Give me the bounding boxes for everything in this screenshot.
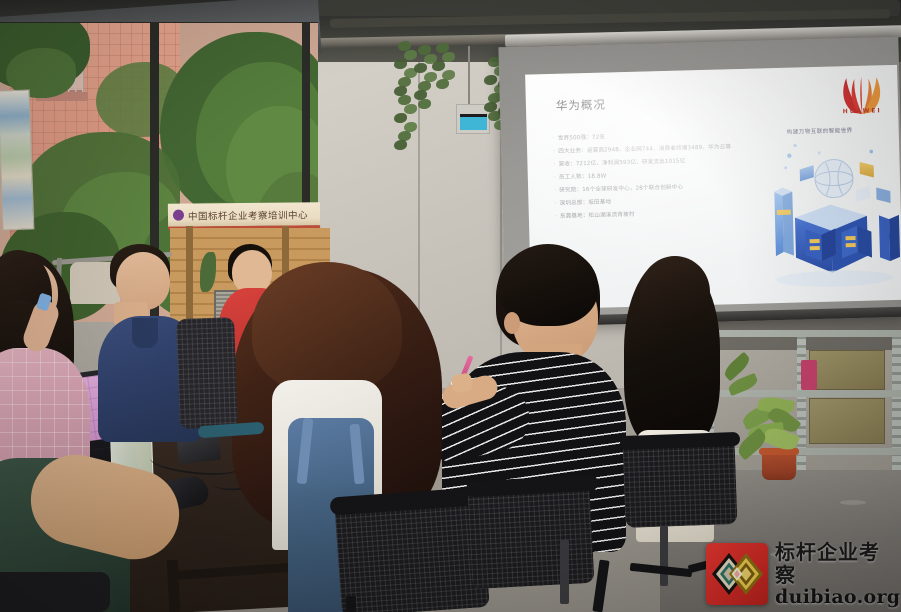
hair-crown xyxy=(252,262,402,392)
duibiao-diamond-logo xyxy=(706,543,768,605)
wall-fixture-blue-sign xyxy=(460,114,487,130)
bullet-text: 营收：7212亿、净利润593亿、研发支出1015亿 xyxy=(558,158,685,168)
pink-item-on-shelf xyxy=(801,360,817,390)
chair-post xyxy=(660,526,668,586)
bullet-marker: · xyxy=(553,149,555,155)
list-item: · 营收：7212亿、净利润593亿、研发支出1015亿 xyxy=(553,156,768,168)
polo-collar xyxy=(132,318,158,348)
chair-post xyxy=(560,540,569,604)
window-mullion xyxy=(0,22,318,23)
shelf-beam xyxy=(705,330,901,337)
list-item: · 东莞基地：松山湖溪流背坡村 xyxy=(555,208,770,220)
watermark: 标杆企业考察 duibiao.org xyxy=(706,541,896,607)
storage-box xyxy=(809,398,885,444)
bullet-marker: · xyxy=(554,201,556,207)
bullet-marker: · xyxy=(555,214,557,220)
watermark-url: duibiao.org xyxy=(775,587,900,608)
hair-crown xyxy=(640,256,710,328)
hanging-wire xyxy=(468,46,470,104)
list-item: · 员工人数：18.8W xyxy=(554,169,769,181)
watermark-text-block: 标杆企业考察 duibiao.org xyxy=(775,541,900,608)
bullet-text: 东莞基地：松山湖溪流背坡村 xyxy=(560,212,635,220)
slide-title: 华为概况 xyxy=(556,96,606,113)
huawei-wordmark: HUAWEI xyxy=(838,107,886,115)
bullet-text: 深圳总部：坂田基地 xyxy=(560,199,612,207)
smart-city-isometric-graphic xyxy=(759,131,901,300)
list-item: · 研究院：16个全球研发中心，28个联合创新中心 xyxy=(554,182,769,194)
slide-illustration: 构建万物互联的智能世界 xyxy=(759,121,901,300)
lap-dark xyxy=(0,572,110,612)
bullet-text: 研究院：16个全球研发中心，28个联合创新中心 xyxy=(559,185,683,195)
floor-detail xyxy=(840,500,866,505)
list-item: · 世界500强：72名 xyxy=(553,130,768,142)
garden-sign-text: 中国标杆企业考察培训中心 xyxy=(188,207,308,222)
bullet-text: 世界500强：72名 xyxy=(558,135,605,143)
watermark-brand-cn: 标杆企业考察 xyxy=(775,541,900,587)
list-item: · 四大业务：运营商2948、企业网744、消费者终端3489、华为云等 xyxy=(553,143,768,155)
potted-plant-pot xyxy=(762,452,796,480)
bullet-marker: · xyxy=(554,188,556,194)
slide-bullet-list: · 世界500强：72名 · 四大业务：运营商2948、企业网744、消费者终端… xyxy=(553,130,770,227)
bullet-marker: · xyxy=(554,175,556,181)
screenshot-root: 中国标杆企业考察培训中心 华为概况 · 世界500强：72名 · 四大业务：运营… xyxy=(0,0,901,612)
chair-leg xyxy=(346,596,356,612)
wall-poster xyxy=(0,89,34,230)
hanging-ivy xyxy=(418,46,432,109)
hanging-ivy xyxy=(436,44,450,89)
circle-mark-icon xyxy=(173,210,184,221)
bullet-marker: · xyxy=(553,162,555,168)
bullet-text: 四大业务：运营商2948、企业网744、消费者终端3489、华为云等 xyxy=(558,144,731,155)
office-chair-back[interactable] xyxy=(467,483,594,589)
ear xyxy=(504,312,520,334)
bullet-marker: · xyxy=(553,136,555,142)
office-chair-back[interactable] xyxy=(623,438,738,528)
hanging-ivy xyxy=(398,42,412,150)
office-chair-back[interactable] xyxy=(176,317,238,429)
list-item: · 深圳总部：坂田基地 xyxy=(554,195,769,207)
bullet-text: 员工人数：18.8W xyxy=(559,174,607,182)
storage-box xyxy=(809,350,885,390)
